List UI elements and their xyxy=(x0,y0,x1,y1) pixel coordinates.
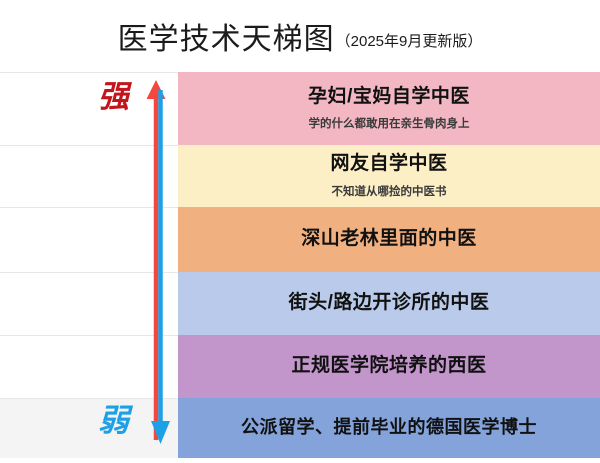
ladder-row-subtitle: 不知道从哪捡的中医书 xyxy=(332,183,447,199)
ladder-bands: 孕妇/宝妈自学中医学的什么都敢用在亲生骨肉身上网友自学中医不知道从哪捡的中医书深… xyxy=(178,72,600,458)
grid-row xyxy=(0,398,178,458)
ladder-row: 孕妇/宝妈自学中医学的什么都敢用在亲生骨肉身上 xyxy=(178,72,600,145)
left-grid-panel xyxy=(0,72,178,458)
ladder-row: 网友自学中医不知道从哪捡的中医书 xyxy=(178,145,600,207)
ladder-row: 正规医学院培养的西医 xyxy=(178,335,600,398)
ladder-row: 街头/路边开诊所的中医 xyxy=(178,272,600,335)
ladder-row-label: 深山老林里面的中医 xyxy=(301,228,477,251)
grid-row xyxy=(0,145,178,207)
ladder-row: 深山老林里面的中医 xyxy=(178,207,600,272)
ladder-row-label: 网友自学中医 xyxy=(330,153,447,176)
ladder-row: 公派留学、提前毕业的德国医学博士 xyxy=(178,398,600,458)
grid-row xyxy=(0,335,178,398)
ladder-row-label: 公派留学、提前毕业的德国医学博士 xyxy=(241,417,537,439)
ladder-row-label: 孕妇/宝妈自学中医 xyxy=(308,86,470,109)
ladder-row-label: 正规医学院培养的西医 xyxy=(291,355,486,378)
grid-row xyxy=(0,272,178,335)
scale-label-strong: 强 xyxy=(98,82,129,113)
ladder-chart-canvas: 医学技术天梯图（2025年9月更新版） 孕妇/宝妈自学中医学的什么都敢用在亲生骨… xyxy=(0,0,600,458)
grid-row xyxy=(0,72,178,145)
title-main-text: 医学技术天梯图 xyxy=(118,14,335,58)
ladder-row-subtitle: 学的什么都敢用在亲生骨肉身上 xyxy=(309,115,470,131)
ladder-row-label: 街头/路边开诊所的中医 xyxy=(289,292,490,315)
grid-row xyxy=(0,207,178,272)
page-title: 医学技术天梯图（2025年9月更新版） xyxy=(0,0,600,72)
title-version-text: （2025年9月更新版） xyxy=(336,30,483,51)
scale-label-weak: 弱 xyxy=(98,406,129,437)
